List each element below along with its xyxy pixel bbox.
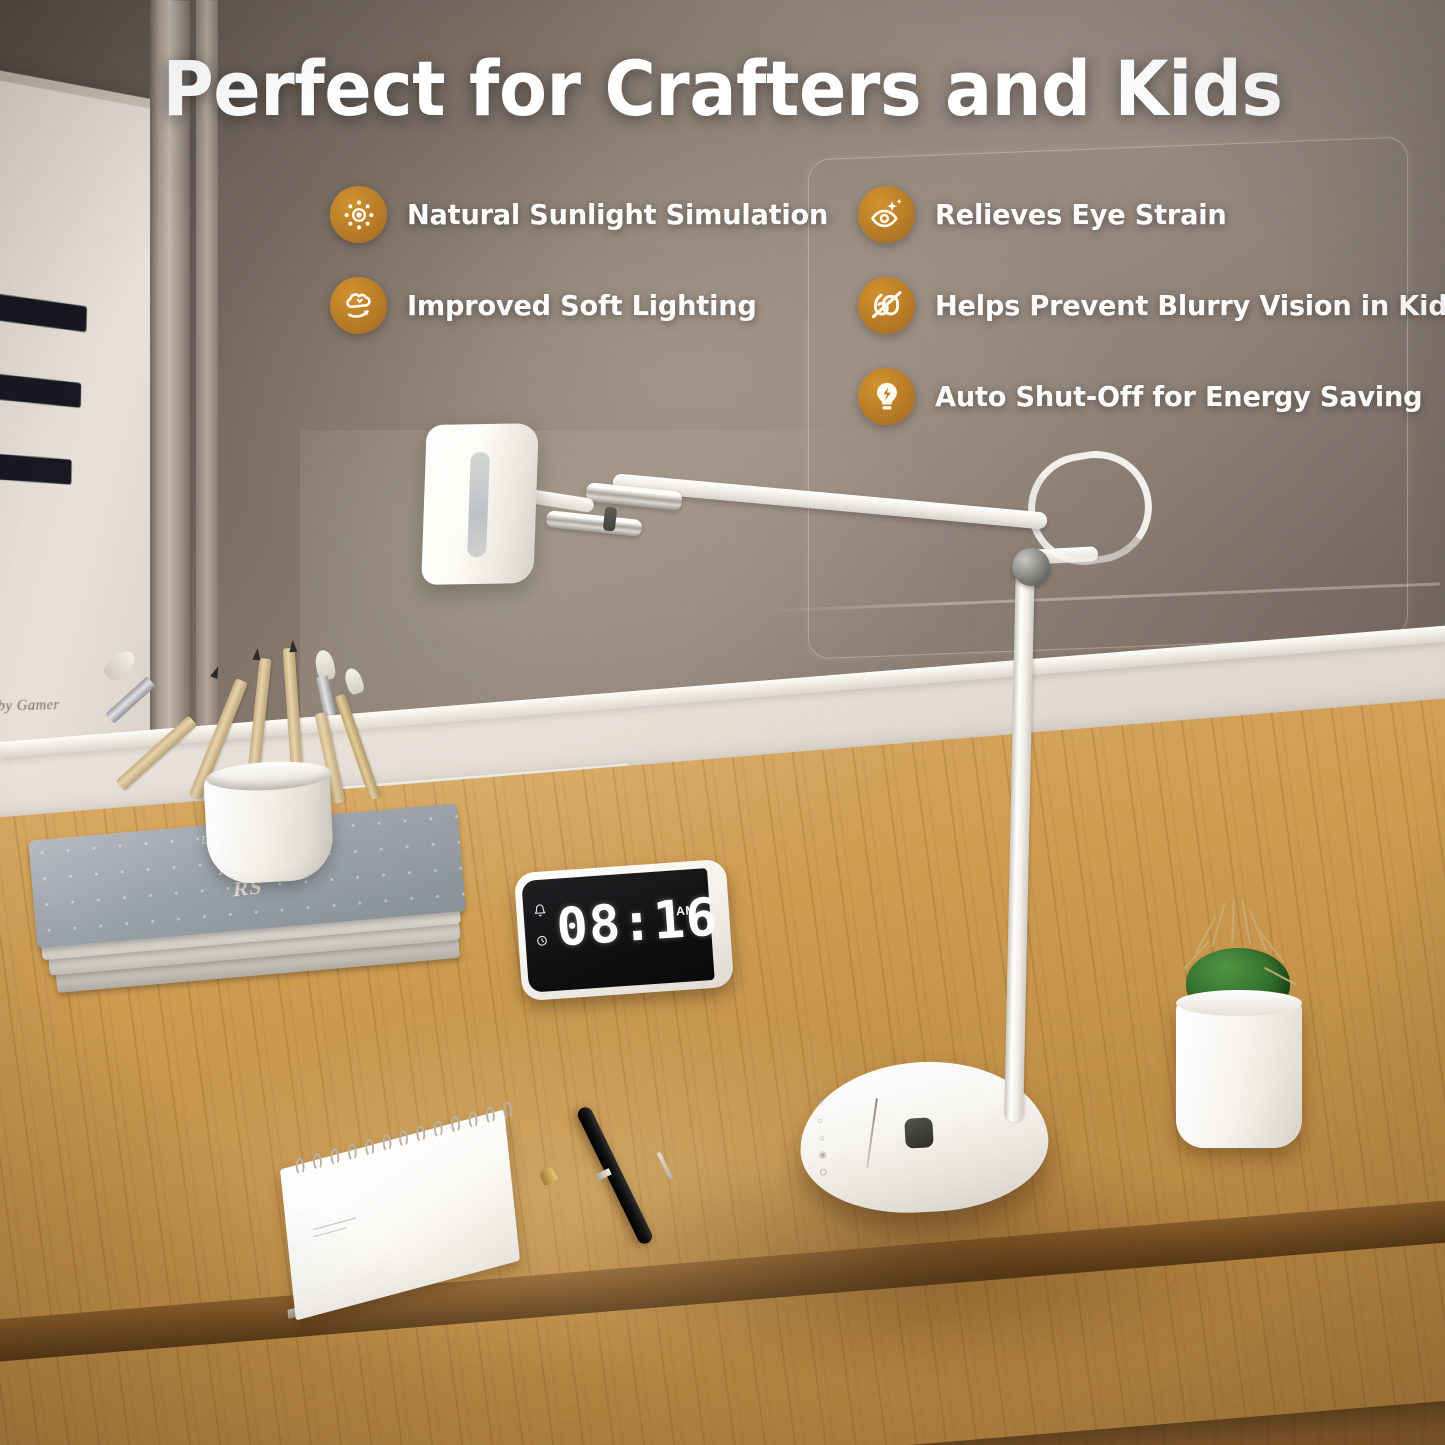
feature-label: Relieves Eye Strain <box>935 198 1226 231</box>
feature-label: Natural Sunlight Simulation <box>407 198 828 231</box>
artwork-mat: by Gamer <box>0 70 169 839</box>
artwork-brushstroke <box>0 290 87 332</box>
artwork-brushstroke <box>0 369 81 408</box>
lamp-control-mark[interactable]: ☀ <box>816 1094 876 1108</box>
spiral-ring <box>295 1157 305 1176</box>
spiral-ring <box>451 1115 461 1134</box>
lightbulb-bolt-icon <box>858 368 915 425</box>
product-feature-banner: by Gamer DOSTOYEVSKY THE AZOV RS <box>0 0 1445 1445</box>
feature-item-soft-lighting[interactable]: Improved Soft Lighting <box>330 277 841 334</box>
feature-label: Improved Soft Lighting <box>407 289 757 322</box>
plant-pot-rim <box>1176 990 1302 1016</box>
feature-list-right: Relieves Eye Strain Helps Prevent Blurry… <box>858 186 1445 425</box>
sun-icon <box>330 186 387 243</box>
cloud-soft-light-icon <box>330 277 387 334</box>
spiral-ring <box>381 1133 391 1152</box>
digital-alarm-clock: 08:16 AM <box>514 859 734 1001</box>
spiral-ring <box>502 1101 512 1120</box>
feature-item-blurry-vision[interactable]: Helps Prevent Blurry Vision in Kids <box>858 277 1445 334</box>
artwork-signature: by Gamer <box>0 697 60 716</box>
lamp-power-button[interactable] <box>904 1117 934 1148</box>
clock-meridiem: AM <box>676 903 697 918</box>
bell-icon <box>533 903 547 922</box>
lamp-pivot-joint[interactable] <box>1012 548 1050 586</box>
artwork-brushstroke <box>0 449 72 484</box>
eye-sparkle-icon <box>858 186 915 243</box>
feature-item-auto-shutoff[interactable]: Auto Shut-Off for Energy Saving <box>858 368 1445 425</box>
pencil-tip <box>289 640 298 653</box>
spiral-ring <box>347 1143 357 1162</box>
feature-item-natural-sunlight[interactable]: Natural Sunlight Simulation <box>330 186 841 243</box>
spiral-ring <box>364 1138 374 1157</box>
spiral-ring <box>416 1124 426 1143</box>
plant-pot <box>1176 1000 1302 1148</box>
pencil-tip <box>252 648 261 661</box>
alarm-clock-icon <box>535 933 549 952</box>
spiral-ring <box>329 1147 339 1166</box>
feature-list-left: Natural Sunlight Simulation Improved Sof… <box>330 186 841 334</box>
spiral-ring <box>399 1129 409 1148</box>
lamp-joint-pin <box>603 506 617 531</box>
feature-label: Auto Shut-Off for Energy Saving <box>935 380 1422 413</box>
clock-time: 08:16 <box>555 891 720 954</box>
page-title: Perfect for Crafters and Kids <box>58 46 1387 132</box>
blurry-vision-crossed-icon <box>858 277 915 334</box>
lamp-led-strip <box>467 452 490 557</box>
spiral-ring <box>485 1106 495 1125</box>
feature-item-eye-strain[interactable]: Relieves Eye Strain <box>858 186 1445 243</box>
clock-display: 08:16 AM <box>521 868 714 993</box>
lamp-control-mark[interactable]: ⭘ <box>820 1164 880 1178</box>
spiral-ring <box>433 1120 443 1139</box>
lamp-control-mark[interactable]: ○ <box>817 1112 877 1125</box>
spiral-ring <box>468 1110 478 1129</box>
feature-label: Helps Prevent Blurry Vision in Kids <box>935 289 1445 322</box>
spiral-ring <box>312 1152 322 1171</box>
